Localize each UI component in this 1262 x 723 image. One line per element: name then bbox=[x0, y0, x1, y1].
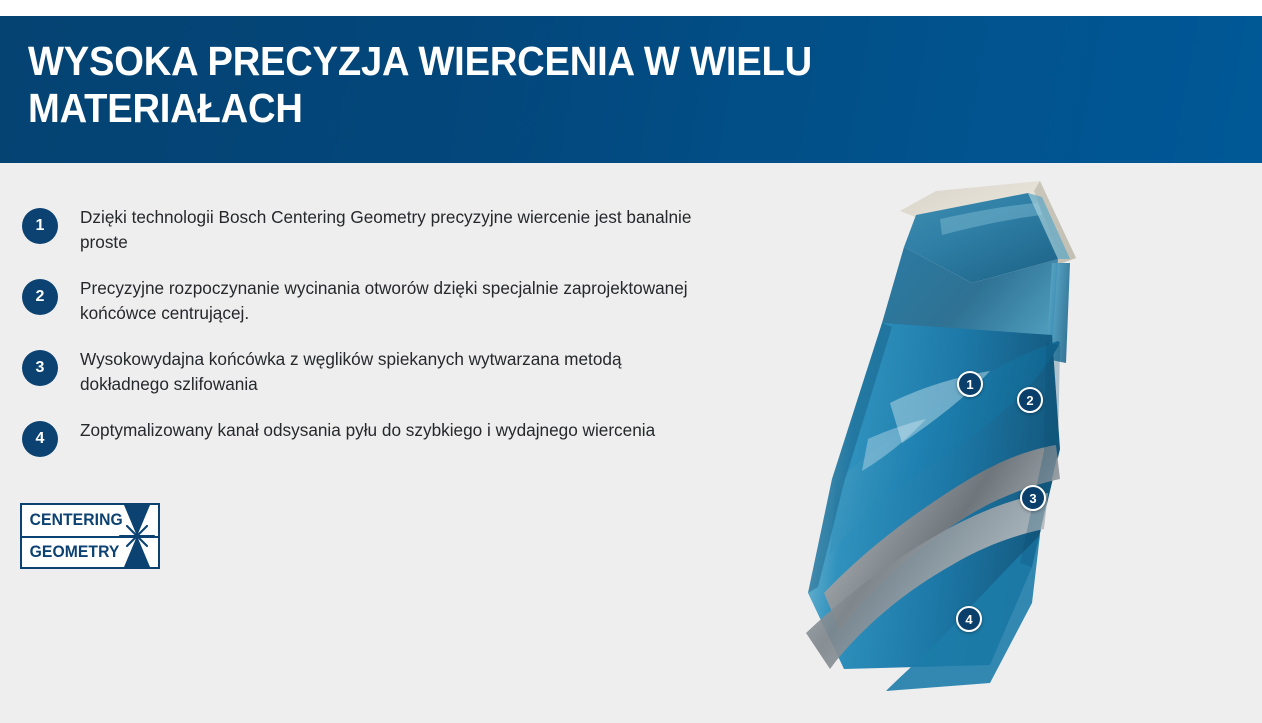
list-item: 3 Wysokowydajna końcówka z węglików spie… bbox=[22, 347, 702, 397]
top-white-strip bbox=[0, 0, 1262, 16]
image-marker-2[interactable]: 2 bbox=[1017, 387, 1043, 413]
feature-text: Zoptymalizowany kanał odsysania pyłu do … bbox=[80, 418, 655, 443]
feature-list: 1 Dzięki technologii Bosch Centering Geo… bbox=[22, 205, 702, 481]
feature-number-badge: 4 bbox=[22, 421, 58, 457]
cg-badge-line1: CENTERING bbox=[22, 511, 123, 530]
feature-text: Wysokowydajna końcówka z węglików spieka… bbox=[80, 347, 692, 397]
feature-number-badge: 2 bbox=[22, 279, 58, 315]
centering-geometry-badge: CENTERING GEOMETRY bbox=[20, 503, 160, 569]
cg-badge-line2: GEOMETRY bbox=[22, 543, 119, 562]
header-band: WYSOKA PRECYZJA WIERCENIA W WIELU MATERI… bbox=[0, 16, 1262, 163]
product-image: 1 2 3 4 bbox=[740, 163, 1160, 693]
list-item: 4 Zoptymalizowany kanał odsysania pyłu d… bbox=[22, 418, 702, 460]
content-area: 1 Dzięki technologii Bosch Centering Geo… bbox=[0, 163, 1262, 723]
product-feature-panel: WYSOKA PRECYZJA WIERCENIA W WIELU MATERI… bbox=[0, 0, 1262, 723]
image-marker-4[interactable]: 4 bbox=[956, 606, 982, 632]
drill-bit-illustration bbox=[740, 163, 1160, 693]
feature-number-badge: 3 bbox=[22, 350, 58, 386]
page-title: WYSOKA PRECYZJA WIERCENIA W WIELU MATERI… bbox=[28, 38, 967, 132]
list-item: 2 Precyzyjne rozpoczynanie wycinania otw… bbox=[22, 276, 702, 326]
image-marker-1[interactable]: 1 bbox=[957, 371, 983, 397]
hourglass-starburst-icon bbox=[116, 505, 158, 567]
list-item: 1 Dzięki technologii Bosch Centering Geo… bbox=[22, 205, 702, 255]
feature-number-badge: 1 bbox=[22, 208, 58, 244]
feature-text: Dzięki technologii Bosch Centering Geome… bbox=[80, 205, 692, 255]
image-marker-3[interactable]: 3 bbox=[1020, 485, 1046, 511]
feature-text: Precyzyjne rozpoczynanie wycinania otwor… bbox=[80, 276, 692, 326]
